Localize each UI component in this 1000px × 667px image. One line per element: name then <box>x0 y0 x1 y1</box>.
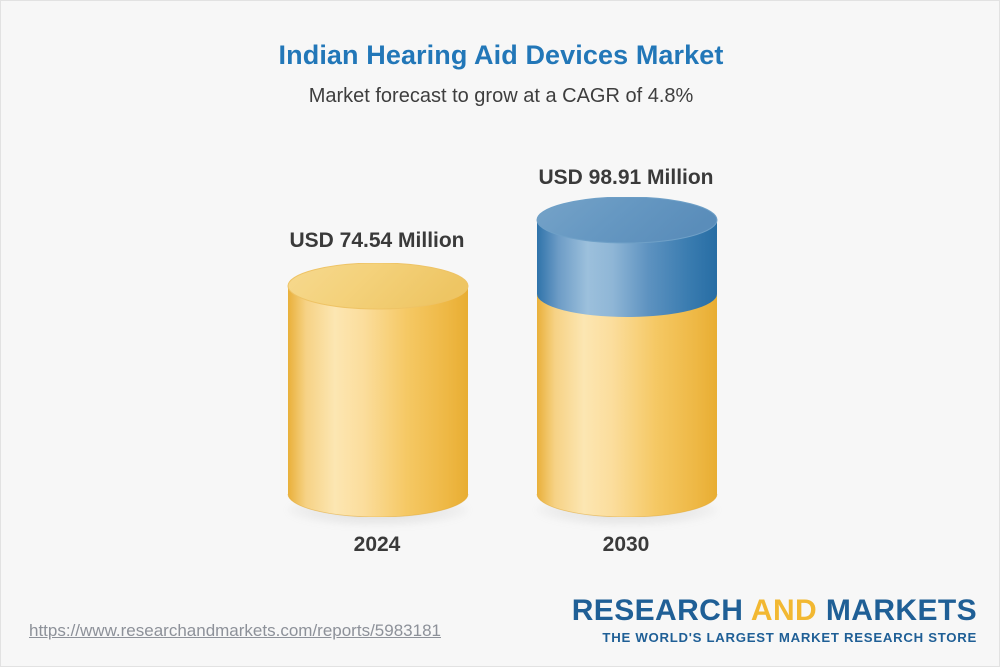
logo-word-research: RESEARCH <box>572 594 744 627</box>
bar-cylinder-2024[interactable] <box>287 263 469 517</box>
logo-wordmark: RESEARCH AND MARKETS <box>572 596 977 626</box>
chart-plot-area: USD 74.54 Million <box>1 1 1000 601</box>
chart-page: Indian Hearing Aid Devices Market Market… <box>0 0 1000 667</box>
logo-word-and: AND <box>751 594 817 627</box>
value-label-2024: USD 74.54 Million <box>217 229 537 253</box>
brand-logo[interactable]: RESEARCH AND MARKETS THE WORLD'S LARGEST… <box>572 596 977 644</box>
logo-word-markets: MARKETS <box>826 594 977 627</box>
report-url-link[interactable]: https://www.researchandmarkets.com/repor… <box>29 621 441 641</box>
bar-cylinder-2030[interactable] <box>536 197 718 517</box>
value-label-2030: USD 98.91 Million <box>466 166 786 190</box>
category-label-2030: 2030 <box>466 533 786 557</box>
logo-tagline: THE WORLD'S LARGEST MARKET RESEARCH STOR… <box>572 631 977 644</box>
